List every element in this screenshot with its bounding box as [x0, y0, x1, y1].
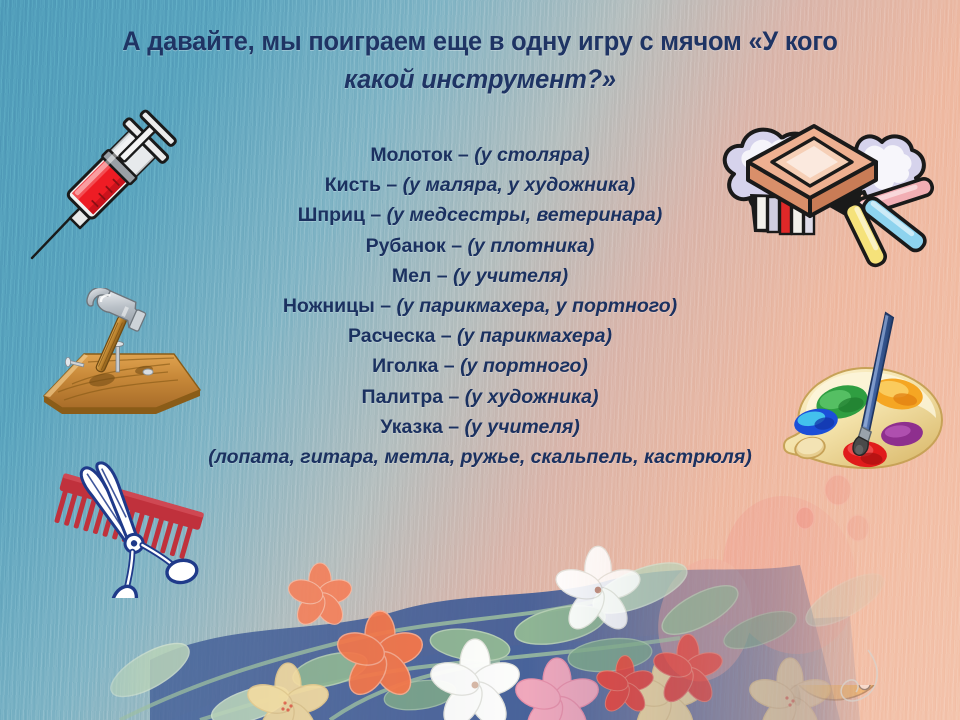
- tool-name: Кисть: [325, 174, 381, 196]
- tool-answer: (у медсестры, ветеринара): [387, 204, 663, 226]
- dash: –: [438, 355, 460, 377]
- list-item: Рубанок – (у плотника): [130, 231, 830, 261]
- list-item: Палитра – (у художника): [130, 382, 830, 412]
- list-item: Кисть – (у маляра, у художника): [130, 170, 830, 200]
- tool-name: Ножницы: [283, 295, 375, 317]
- list-item: Расческа – (у парикмахера): [130, 321, 830, 351]
- tool-answer: (у учителя): [465, 416, 580, 438]
- tool-name: Палитра: [362, 386, 444, 408]
- dash: –: [453, 144, 475, 166]
- dash: –: [443, 386, 465, 408]
- slide-canvas: А давайте, мы поиграем еще в одну игру с…: [0, 0, 960, 720]
- tool-name: Рубанок: [366, 235, 446, 257]
- title-line-1: А давайте, мы поиграем еще в одну игру с…: [76, 22, 884, 60]
- tool-name: Молоток: [370, 144, 452, 166]
- tool-name: Шприц: [298, 204, 365, 226]
- dash: –: [431, 265, 453, 287]
- list-item: Мел – (у учителя): [130, 261, 830, 291]
- dash: –: [375, 295, 397, 317]
- list-item: Ножницы – (у парикмахера, у портного): [130, 291, 830, 321]
- tool-name: Указка: [380, 416, 443, 438]
- extra-tools-line: (лопата, гитара, метла, ружье, скальпель…: [130, 442, 830, 472]
- tool-answer: (у маляра, у художника): [403, 174, 636, 196]
- comb-and-scissors-illustration: [42, 452, 212, 598]
- tool-answer: (у столяра): [474, 144, 589, 166]
- list-item: Молоток – (у столяра): [130, 140, 830, 170]
- tool-answer: (у портного): [460, 355, 588, 377]
- tool-name: Иголка: [372, 355, 438, 377]
- dash: –: [435, 325, 457, 347]
- tool-answer: (у учителя): [453, 265, 568, 287]
- dash: –: [443, 416, 465, 438]
- tool-answer: (у парикмахера): [457, 325, 612, 347]
- page-title: А давайте, мы поиграем еще в одну игру с…: [76, 22, 884, 98]
- tool-name: Расческа: [348, 325, 435, 347]
- list-item: Иголка – (у портного): [130, 351, 830, 381]
- title-line-2: какой инструмент?»: [76, 60, 884, 98]
- tool-answer: (у художника): [465, 386, 599, 408]
- tool-name: Мел: [392, 265, 431, 287]
- dash: –: [365, 204, 387, 226]
- list-item: Шприц – (у медсестры, ветеринара): [130, 200, 830, 230]
- list-item: Указка – (у учителя): [130, 412, 830, 442]
- tool-answer: (у плотника): [467, 235, 594, 257]
- tool-answer-list: Молоток – (у столяра) Кисть – (у маляра,…: [130, 140, 830, 472]
- flower-orange-bud: [285, 563, 354, 629]
- tool-answer: (у парикмахера, у портного): [397, 295, 678, 317]
- dash: –: [446, 235, 468, 257]
- dash: –: [381, 174, 403, 196]
